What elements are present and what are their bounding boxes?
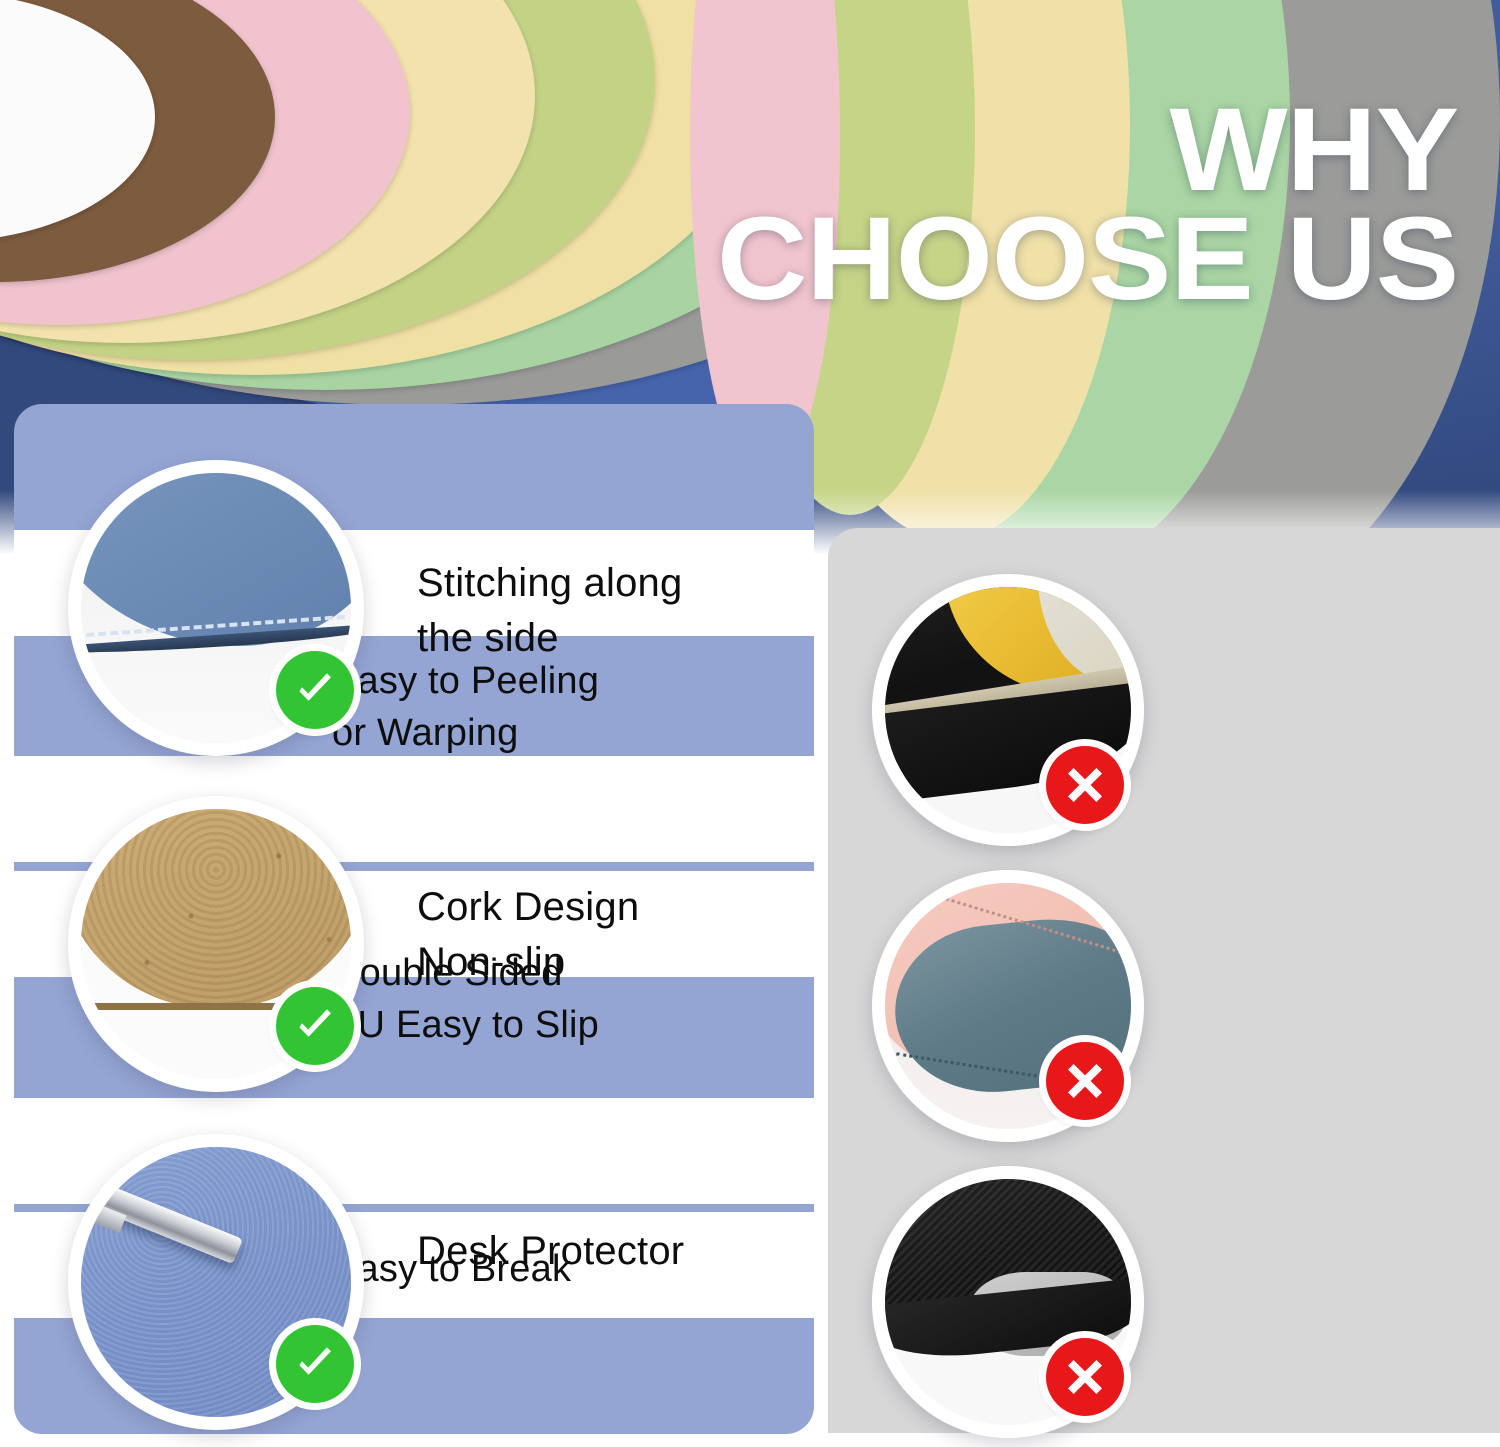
pros-label-2: Desk Protector — [417, 1224, 684, 1279]
check-icon — [276, 1325, 354, 1403]
why-choose-us-infographic: WHY CHOOSE US Stitching along the side C… — [0, 0, 1500, 1447]
pros-label-0-line-2: the side — [417, 611, 682, 666]
pros-label-0-line-1: Stitching along — [417, 556, 682, 611]
pros-label-0: Stitching along the side — [417, 556, 682, 666]
pros-label-1-line-1: Cork Design — [417, 880, 639, 935]
pros-label-1-line-2: Non-slip — [417, 935, 639, 990]
cons-label-0-line-2: or Warping — [332, 707, 599, 759]
title-line-1: WHY — [717, 96, 1458, 205]
cross-icon — [1046, 1338, 1124, 1416]
pros-label-1: Cork Design Non-slip — [417, 880, 639, 990]
page-title: WHY CHOOSE US — [717, 96, 1458, 313]
check-icon — [276, 651, 354, 729]
check-icon — [276, 987, 354, 1065]
cross-icon — [1046, 746, 1124, 824]
cross-icon — [1046, 1042, 1124, 1120]
cons-label-1-line-2: PU Easy to Slip — [332, 999, 599, 1051]
pros-label-2-line-1: Desk Protector — [417, 1224, 684, 1279]
title-line-2: CHOOSE US — [717, 205, 1458, 314]
cons-label-0: Easy to Peeling or Warping — [332, 655, 599, 760]
